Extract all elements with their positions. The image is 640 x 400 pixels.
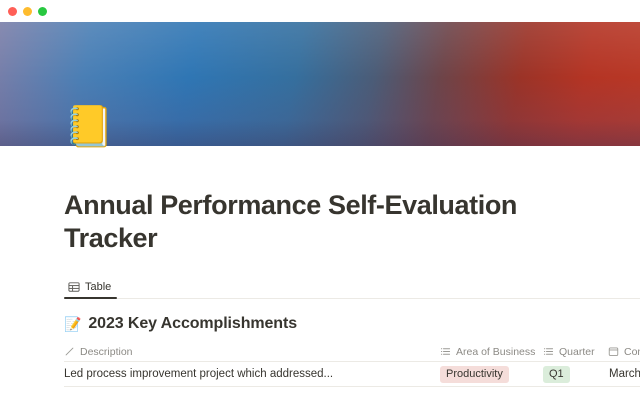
table-row[interactable]: Led process improvement project which ad… [64, 362, 640, 387]
memo-emoji: 📝 [64, 317, 81, 331]
maximize-button[interactable] [38, 7, 47, 16]
multi-select-icon [543, 346, 554, 357]
cell-completed-date[interactable]: March 7 [608, 362, 640, 386]
database-table: Description Area of Business [64, 342, 640, 387]
column-header-quarter-label: Quarter [559, 346, 595, 358]
window-traffic-lights [8, 7, 47, 16]
tabbar-divider [64, 298, 640, 299]
column-header-completed-date[interactable]: Com [608, 342, 640, 361]
page-body: Annual Performance Self-Evaluation Track… [0, 146, 640, 400]
tab-table[interactable]: Table [64, 275, 117, 299]
column-header-area-of-business[interactable]: Area of Business [440, 342, 543, 361]
tab-table-label: Table [85, 281, 111, 293]
cell-quarter[interactable]: Q1 [543, 362, 608, 386]
table-row-clipped-wrapper: Improved Quality ROI Dashboard by provid… [64, 396, 640, 400]
app-window: 📒 Annual Performance Self-Evaluation Tra… [0, 0, 640, 400]
minimize-button[interactable] [23, 7, 32, 16]
column-header-area-of-business-label: Area of Business [456, 346, 535, 358]
cell-area-of-business[interactable]: Productivity [440, 362, 543, 386]
block-heading-label: 2023 Key Accomplishments [88, 315, 297, 333]
status-badge: Q1 [543, 366, 570, 383]
cell-completed-date[interactable]: June 2 [608, 396, 640, 400]
view-tabbar: Table [64, 275, 640, 299]
column-header-description[interactable]: Description [64, 342, 440, 361]
multi-select-icon [440, 346, 451, 357]
cell-area-of-business[interactable]: Quality [440, 396, 543, 400]
cell-completed-date-value: March 7 [608, 368, 640, 380]
window-titlebar [0, 0, 640, 22]
column-header-completed-date-label: Com [624, 346, 640, 358]
table-row[interactable]: Improved Quality ROI Dashboard by provid… [64, 396, 640, 400]
table-icon [68, 281, 80, 293]
cell-description[interactable]: Led process improvement project which ad… [64, 362, 440, 386]
status-badge: Productivity [440, 366, 509, 383]
cell-description[interactable]: Improved Quality ROI Dashboard by provid… [64, 396, 440, 400]
date-icon [608, 346, 619, 357]
ledger-notebook-emoji[interactable]: 📒 [64, 104, 114, 150]
column-header-quarter[interactable]: Quarter [543, 342, 608, 361]
pencil-icon [64, 346, 75, 357]
page-title[interactable]: Annual Performance Self-Evaluation Track… [64, 189, 534, 255]
cell-quarter[interactable]: Q2 [543, 396, 608, 400]
block-heading[interactable]: 📝 2023 Key Accomplishments [64, 315, 640, 333]
column-header-description-label: Description [80, 346, 133, 358]
close-button[interactable] [8, 7, 17, 16]
table-header-row: Description Area of Business [64, 342, 640, 362]
